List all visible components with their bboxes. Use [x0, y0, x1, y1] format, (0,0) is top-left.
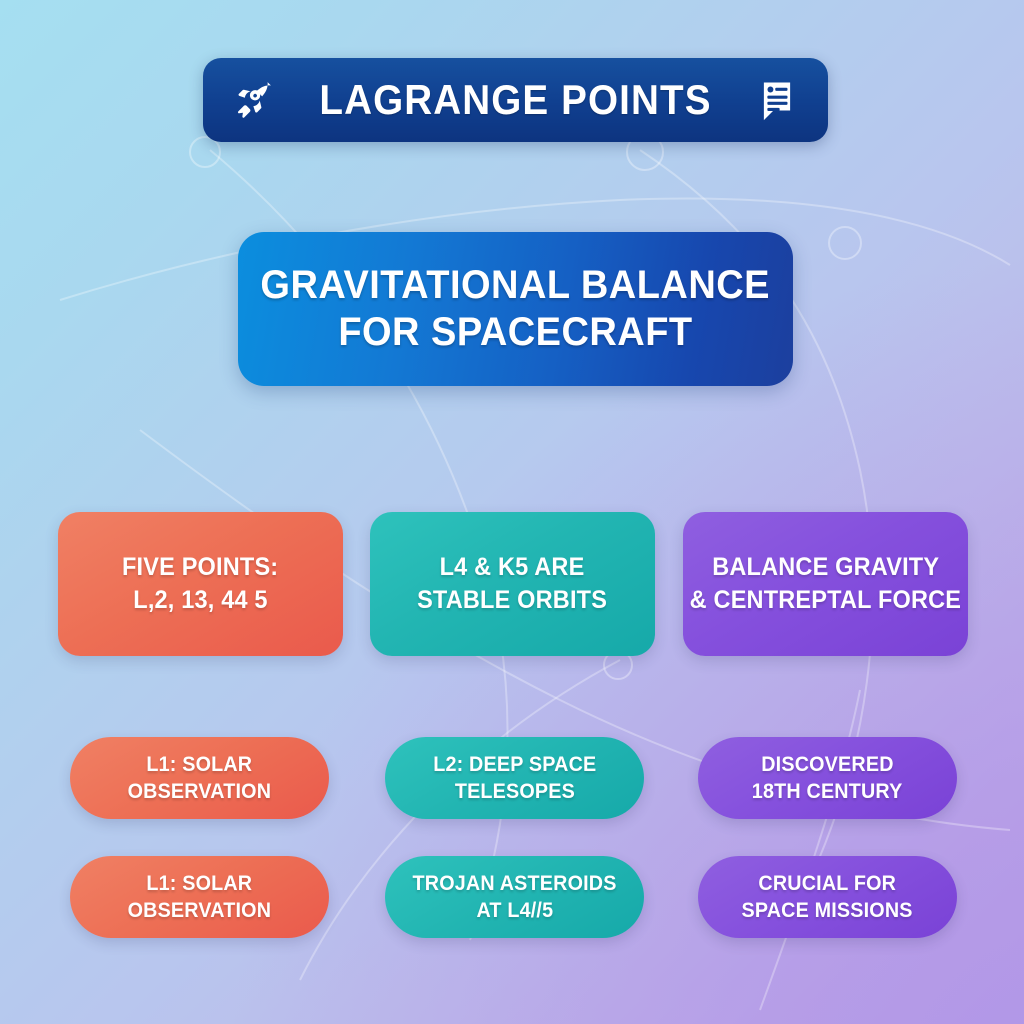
feature-card-line-1: L4 & K5 ARE	[440, 551, 585, 585]
info-pill-line-1: L1: SOLAR	[147, 870, 253, 897]
subtitle-line-1: GRAVITATIONAL BALANCE	[261, 262, 771, 309]
feature-card-line-2: L,2, 13, 44 5	[133, 584, 267, 618]
header-bar: LAGRANGE POINTS	[203, 58, 828, 142]
document-icon	[754, 77, 800, 123]
info-pill-line-2: OBSERVATION	[128, 897, 272, 924]
infographic-canvas: LAGRANGE POINTS GRAVITATIONAL BALANCE FO…	[0, 0, 1024, 1024]
feature-card[interactable]: BALANCE GRAVITY & CENTREPTAL FORCE	[683, 512, 968, 656]
feature-card-line-1: FIVE POINTS:	[122, 551, 278, 585]
info-pill[interactable]: L2: DEEP SPACE TELESOPES	[385, 737, 644, 819]
info-pill-line-1: L1: SOLAR	[147, 751, 253, 778]
info-pill-line-1: L2: DEEP SPACE	[433, 751, 596, 778]
info-pill-line-2: SPACE MISSIONS	[742, 897, 913, 924]
feature-card-line-2: & CENTREPTAL FORCE	[690, 584, 961, 618]
info-pill[interactable]: L1: SOLAR OBSERVATION	[70, 856, 329, 938]
feature-card-line-1: BALANCE GRAVITY	[712, 551, 939, 585]
feature-card[interactable]: FIVE POINTS: L,2, 13, 44 5	[58, 512, 343, 656]
rocket-icon	[231, 77, 277, 123]
info-pill-line-2: 18TH CENTURY	[752, 778, 903, 805]
info-pill[interactable]: L1: SOLAR OBSERVATION	[70, 737, 329, 819]
subtitle-banner: GRAVITATIONAL BALANCE FOR SPACECRAFT	[238, 232, 793, 386]
info-pill[interactable]: TROJAN ASTEROIDS AT L4//5	[385, 856, 644, 938]
info-pill-line-2: AT L4//5	[476, 897, 553, 924]
info-pill-line-1: DISCOVERED	[761, 751, 893, 778]
feature-cards-row: FIVE POINTS: L,2, 13, 44 5 L4 & K5 ARE S…	[0, 512, 1024, 656]
info-pill-line-2: TELESOPES	[454, 778, 574, 805]
info-pill-line-1: CRUCIAL FOR	[759, 870, 897, 897]
info-pill[interactable]: DISCOVERED 18TH CENTURY	[698, 737, 957, 819]
feature-card-line-2: STABLE ORBITS	[417, 584, 607, 618]
page-title: LAGRANGE POINTS	[296, 76, 735, 124]
feature-card[interactable]: L4 & K5 ARE STABLE ORBITS	[370, 512, 655, 656]
info-pill[interactable]: CRUCIAL FOR SPACE MISSIONS	[698, 856, 957, 938]
info-pill-line-1: TROJAN ASTEROIDS	[412, 870, 616, 897]
subtitle-line-2: FOR SPACECRAFT	[338, 309, 692, 356]
info-pill-line-2: OBSERVATION	[128, 778, 272, 805]
